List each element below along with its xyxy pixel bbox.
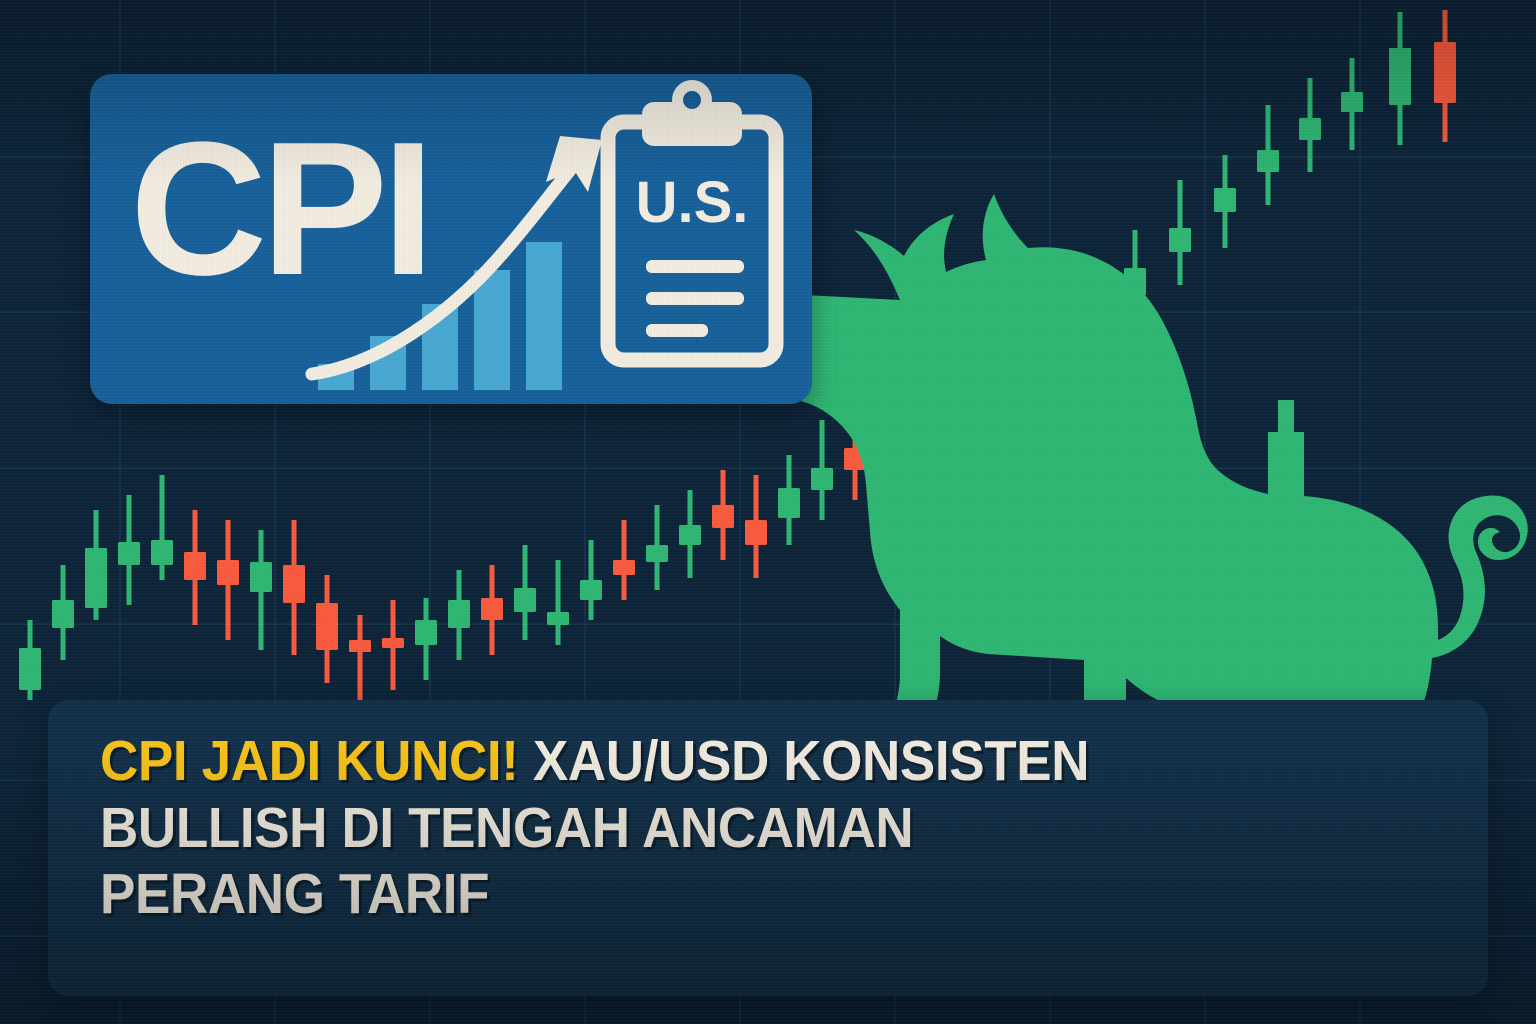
cpi-badge-card: CPI U.S. xyxy=(90,74,812,404)
cpi-logo-text: CPI xyxy=(130,103,429,315)
headline-title: CPI JADI KUNCI! XAU/USD KONSISTEN BULLIS… xyxy=(100,728,1365,928)
thumbnail-canvas: CPI U.S. xyxy=(0,0,1536,1024)
headline-line-1: CPI JADI KUNCI! XAU/USD KONSISTEN xyxy=(100,728,1365,795)
clipboard-icon: U.S. xyxy=(608,80,776,360)
clipboard-label: U.S. xyxy=(636,170,749,235)
headline-banner: CPI JADI KUNCI! XAU/USD KONSISTEN BULLIS… xyxy=(48,700,1488,996)
headline-line-1-rest: XAU/USD KONSISTEN xyxy=(519,729,1090,793)
headline-line-2: BULLISH DI TENGAH ANCAMAN xyxy=(100,795,1365,862)
headline-accent: CPI JADI KUNCI! xyxy=(100,729,519,793)
headline-line-3: PERANG TARIF xyxy=(100,861,1365,928)
